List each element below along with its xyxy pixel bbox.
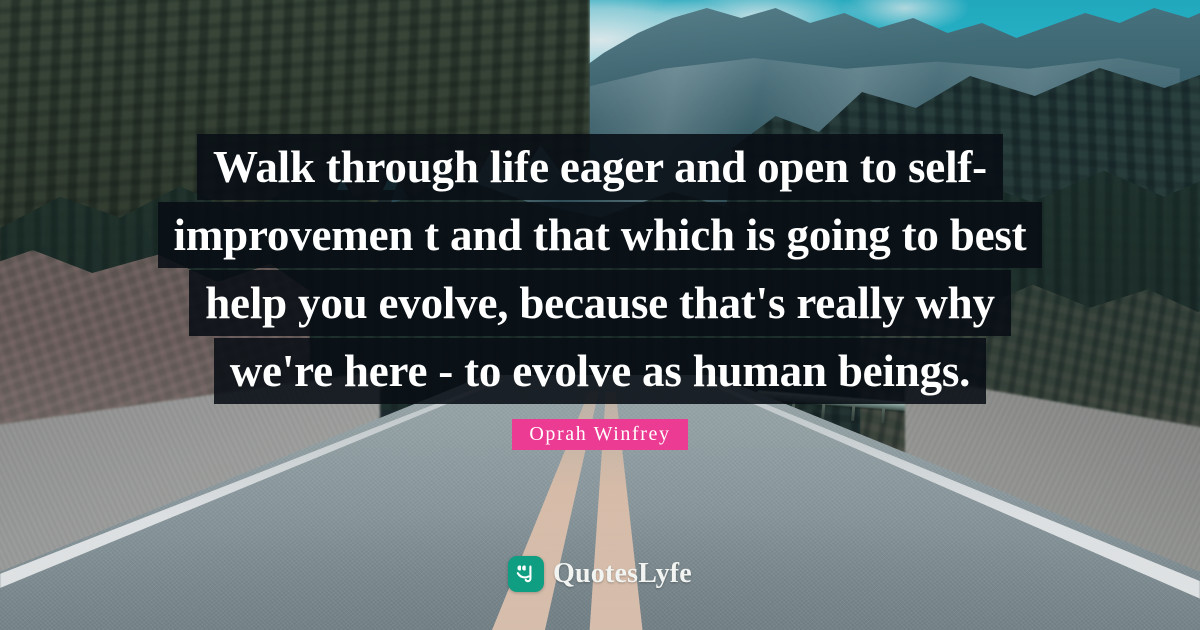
author-name-badge[interactable]: Oprah Winfrey — [512, 419, 687, 450]
quote-card: Walk through life eager and open to self… — [0, 0, 1200, 630]
author-badge-wrapper: Oprah Winfrey — [0, 419, 1200, 450]
quote-line: help you evolve, because that's really w… — [189, 270, 1011, 336]
quote-line: improvemen t and that which is going to … — [158, 202, 1043, 268]
quote-line: Walk through life eager and open to self… — [197, 134, 1003, 200]
guardrail-post — [821, 403, 825, 419]
quote-text-block: Walk through life eager and open to self… — [0, 134, 1200, 404]
quote-line: we're here - to evolve as human beings. — [214, 338, 986, 404]
quoteslyfe-logo-icon — [508, 556, 544, 592]
brand-logo[interactable]: QuotesLyfe — [0, 556, 1200, 592]
quoteslyfe-wordmark: QuotesLyfe — [553, 557, 692, 591]
